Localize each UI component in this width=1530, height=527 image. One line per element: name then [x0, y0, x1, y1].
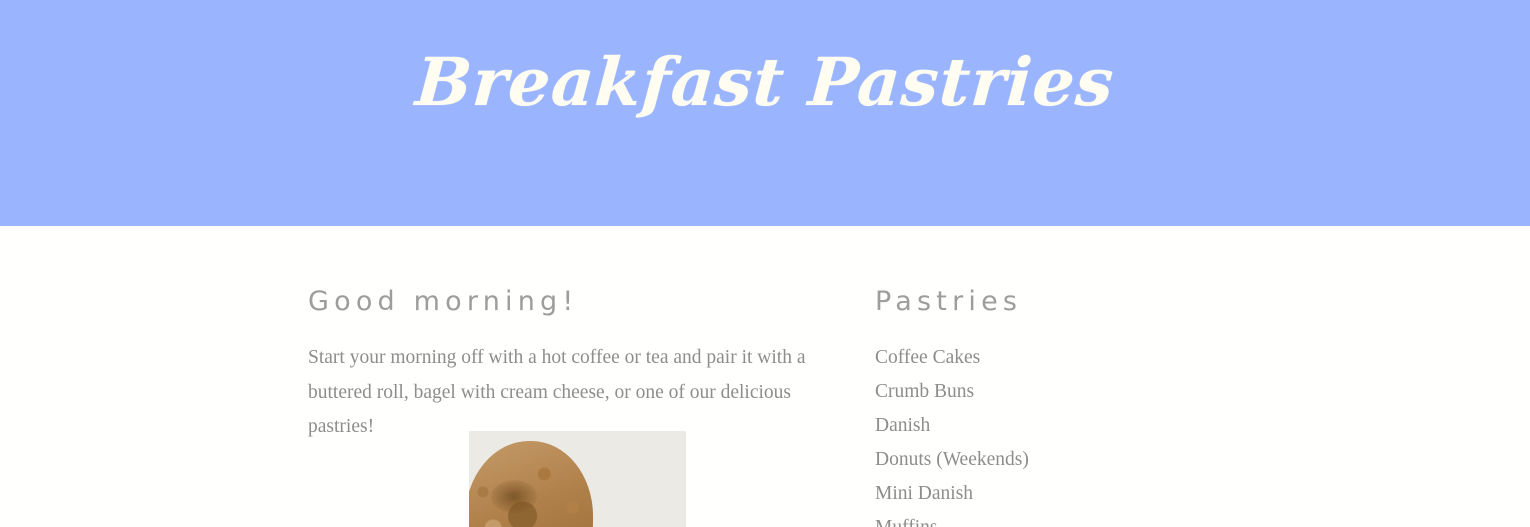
- intro-paragraph: Start your morning off with a hot coffee…: [308, 315, 838, 445]
- list-item: Muffins: [875, 511, 1175, 527]
- pastry-photo-container: [469, 431, 686, 527]
- site-header: Breakfast Pastries: [0, 0, 1530, 226]
- list-item: Crumb Buns: [875, 375, 1175, 409]
- list-item: Mini Danish: [875, 477, 1175, 511]
- main-content: Good morning! Start your morning off wit…: [0, 226, 1530, 527]
- list-item: Coffee Cakes: [875, 341, 1175, 375]
- pastry-photo: [469, 431, 686, 527]
- page-title: Breakfast Pastries: [0, 49, 1530, 115]
- list-item: Danish: [875, 409, 1175, 443]
- list-item: Donuts (Weekends): [875, 443, 1175, 477]
- content-columns: Good morning! Start your morning off wit…: [0, 226, 1530, 527]
- right-column: Pastries Coffee CakesCrumb BunsDanishDon…: [875, 226, 1175, 527]
- left-column: Good morning! Start your morning off wit…: [308, 226, 838, 445]
- pastries-heading: Pastries: [875, 226, 1175, 315]
- pastry-list: Coffee CakesCrumb BunsDanishDonuts (Week…: [875, 315, 1175, 527]
- crumb-cake-shape: [469, 441, 593, 527]
- good-morning-heading: Good morning!: [308, 226, 838, 315]
